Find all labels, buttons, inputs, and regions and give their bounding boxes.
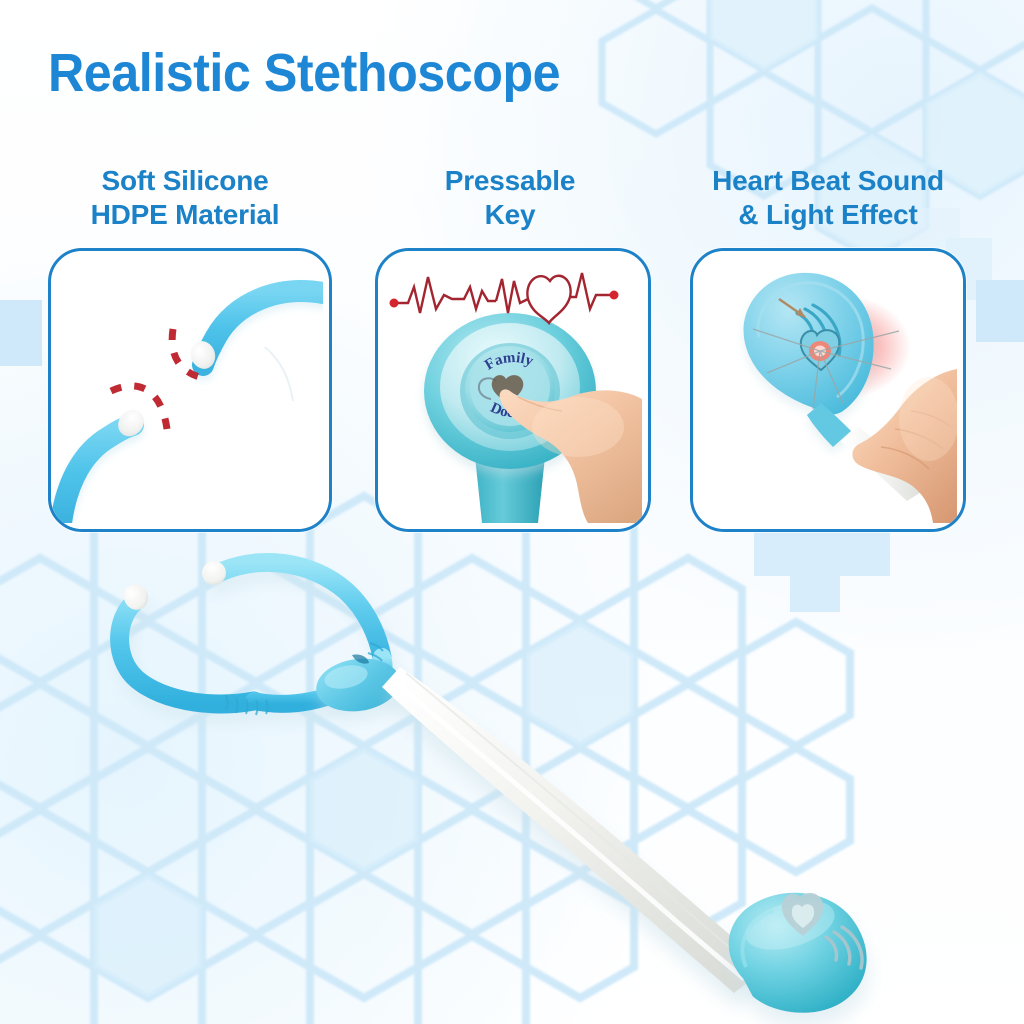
caption-line-2: HDPE Material — [40, 198, 330, 232]
pressable-key-illustration: Family Doctor — [378, 251, 642, 523]
panel-heartbeat-light — [690, 248, 966, 532]
caption-line-2: Key — [372, 198, 648, 232]
stethoscope-product-photo — [0, 505, 1024, 1024]
page-title: Realistic Stethoscope — [48, 46, 560, 100]
ear-tube-lower — [61, 425, 133, 523]
caption-heartbeat-light: Heart Beat Sound & Light Effect — [672, 164, 984, 232]
caption-line-2: & Light Effect — [672, 198, 984, 232]
deco-rect-left — [0, 300, 42, 366]
headset-arm-left — [120, 601, 254, 704]
deco-rect-topright-b — [976, 280, 1024, 342]
headset-arch — [214, 562, 382, 657]
panel-soft-silicone — [48, 248, 332, 532]
tubing — [382, 667, 768, 993]
heartbeat-light-illustration — [693, 251, 957, 523]
caption-line-1: Heart Beat Sound — [672, 164, 984, 198]
infographic-canvas: Realistic Stethoscope Soft Silicone HDPE… — [0, 0, 1024, 1024]
caption-line-1: Pressable — [372, 164, 648, 198]
hero-illustration — [0, 505, 1024, 1024]
panel-pressable-key: Family Doctor — [375, 248, 651, 532]
caption-pressable-key: Pressable Key — [372, 164, 648, 232]
soft-silicone-illustration — [51, 251, 323, 523]
caption-soft-silicone: Soft Silicone HDPE Material — [40, 164, 330, 232]
chest-piece — [725, 888, 870, 1018]
ear-tube-upper — [203, 291, 323, 365]
caption-line-1: Soft Silicone — [40, 164, 330, 198]
